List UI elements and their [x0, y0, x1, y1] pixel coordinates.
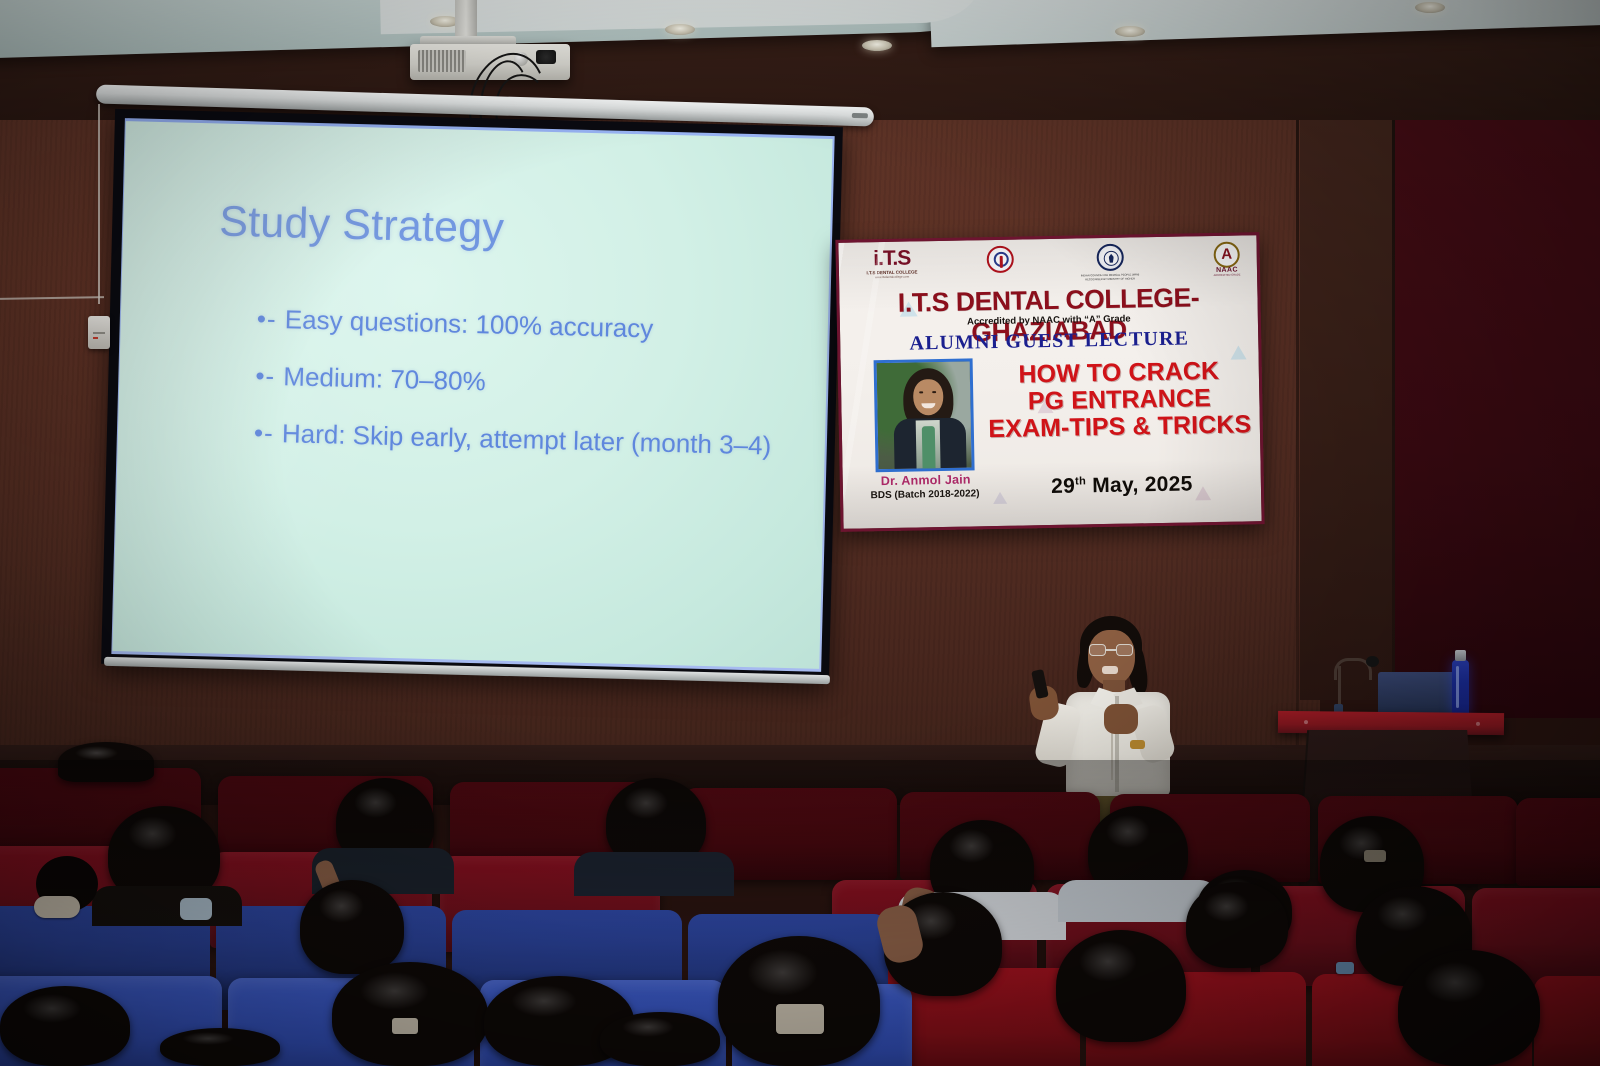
photo-eye: [919, 391, 923, 393]
projector-mount-bracket: [455, 0, 477, 40]
switch-line-icon: [93, 332, 105, 334]
projection-screen: Study Strategy Easy questions: 100% accu…: [101, 109, 843, 682]
switch-led-icon: [93, 337, 98, 339]
photo-scarf: [922, 426, 936, 472]
slide-title: Study Strategy: [219, 198, 795, 262]
lens-right: [1116, 644, 1133, 656]
water-bottle: [1452, 660, 1469, 716]
audience-head: [0, 986, 130, 1066]
photo-eye: [932, 391, 936, 393]
lens-left: [1089, 644, 1106, 656]
banner-headline-line: EXAM-TIPS & TRICKS: [984, 411, 1256, 443]
its-dental-college-logo: i.T.S I.T.S DENTAL COLLEGE www.itsdental…: [861, 247, 924, 279]
wall-seam: [1296, 110, 1299, 750]
laptop-on-podium: [1378, 672, 1456, 716]
audience-head: [600, 1012, 720, 1066]
audience-shoulder: [92, 886, 242, 926]
banner-date-suffix: th: [1075, 475, 1086, 487]
podium-screw-icon: [1476, 722, 1480, 726]
speaker-photo: [874, 358, 975, 472]
slide-bullet: Hard: Skip early, attempt later (month 3…: [254, 418, 790, 463]
hair-clip: [34, 896, 80, 918]
its-logo-mark: i.T.S: [861, 247, 923, 269]
banner-speaker-qualification: BDS (Batch 2018-2022): [861, 488, 989, 501]
downlight-icon: [1415, 2, 1445, 13]
wall-switch-box[interactable]: [88, 316, 110, 349]
banner-date: 29th May, 2025: [993, 471, 1251, 500]
presenter-face: [1088, 630, 1135, 686]
naac-sublabel: ACCREDITED GRADE: [1201, 273, 1253, 277]
downlight-icon: [862, 40, 892, 51]
banner-date-day: 29: [1051, 475, 1075, 498]
projector-lens-icon: [536, 50, 556, 64]
slide-bullet-list: Easy questions: 100% accuracy Medium: 70…: [214, 303, 792, 463]
naac-a-grade-logo: A NAAC ACCREDITED GRADE: [1200, 241, 1253, 277]
slide-bullet: Medium: 70–80%: [255, 361, 791, 406]
university-seal-logo: INDIAN COUNCIL FOR MEDICAL PEOPLE (IIRM)…: [1096, 244, 1123, 271]
banner-speaker-name: Dr. Anmol Jain: [867, 472, 985, 488]
projector-vent-icon: [418, 50, 466, 72]
wall-cable: [98, 104, 100, 304]
audience-head: [300, 880, 404, 974]
glasses-bridge: [1106, 649, 1116, 651]
hair-clip: [776, 1004, 824, 1034]
seat-row-back: [1516, 798, 1600, 886]
wall-seam: [1392, 120, 1395, 720]
naac-grade-letter: A: [1213, 242, 1239, 268]
university-seal-caption: INDIAN COUNCIL FOR MEDICAL PEOPLE (IIRM)…: [1077, 273, 1143, 281]
university-seal-icon: [1096, 244, 1123, 271]
presenter-hand-right: [1104, 704, 1138, 734]
audience-head: [1056, 930, 1186, 1042]
podium-screw-icon: [1304, 720, 1308, 724]
audience-head: [332, 962, 488, 1066]
audience-head: [58, 742, 154, 782]
screen-surface: Study Strategy Easy questions: 100% accu…: [112, 121, 832, 669]
downlight-icon: [665, 24, 695, 35]
dci-emblem-logo: [986, 246, 1013, 273]
banner-headline-line: HOW TO CRACK: [983, 357, 1255, 389]
presenter: [1018, 608, 1198, 818]
event-banner: i.T.S I.T.S DENTAL COLLEGE www.itsdental…: [835, 232, 1264, 532]
hair-clip: [1336, 962, 1354, 974]
hair-tie: [1364, 850, 1386, 862]
downlight-icon: [1115, 26, 1145, 37]
roller-end-cap-icon: [852, 113, 868, 118]
audience-shoulder: [574, 852, 734, 896]
presenter-mouth: [1102, 666, 1118, 674]
microphone-head-icon: [1366, 656, 1379, 667]
audience-head: [718, 936, 880, 1066]
audience-head: [1398, 950, 1540, 1066]
wristwatch-icon: [1130, 740, 1145, 749]
audience-head: [1186, 882, 1288, 968]
right-wall-maroon-panel: [1395, 118, 1600, 718]
eyeglasses-icon: [1088, 644, 1134, 656]
banner-headline: HOW TO CRACK PG ENTRANCE EXAM-TIPS & TRI…: [983, 357, 1256, 443]
presentation-slide: Study Strategy Easy questions: 100% accu…: [112, 121, 832, 669]
face-mask: [180, 898, 212, 920]
banner-date-rest: May, 2025: [1086, 472, 1193, 497]
seat-row-front: [1534, 976, 1600, 1066]
hair-clip: [392, 1018, 418, 1034]
auditorium-photo: Study Strategy Easy questions: 100% accu…: [0, 0, 1600, 1066]
dci-circle-icon: [986, 246, 1013, 273]
slide-bullet: Easy questions: 100% accuracy: [256, 304, 792, 349]
audience-head: [160, 1028, 280, 1066]
